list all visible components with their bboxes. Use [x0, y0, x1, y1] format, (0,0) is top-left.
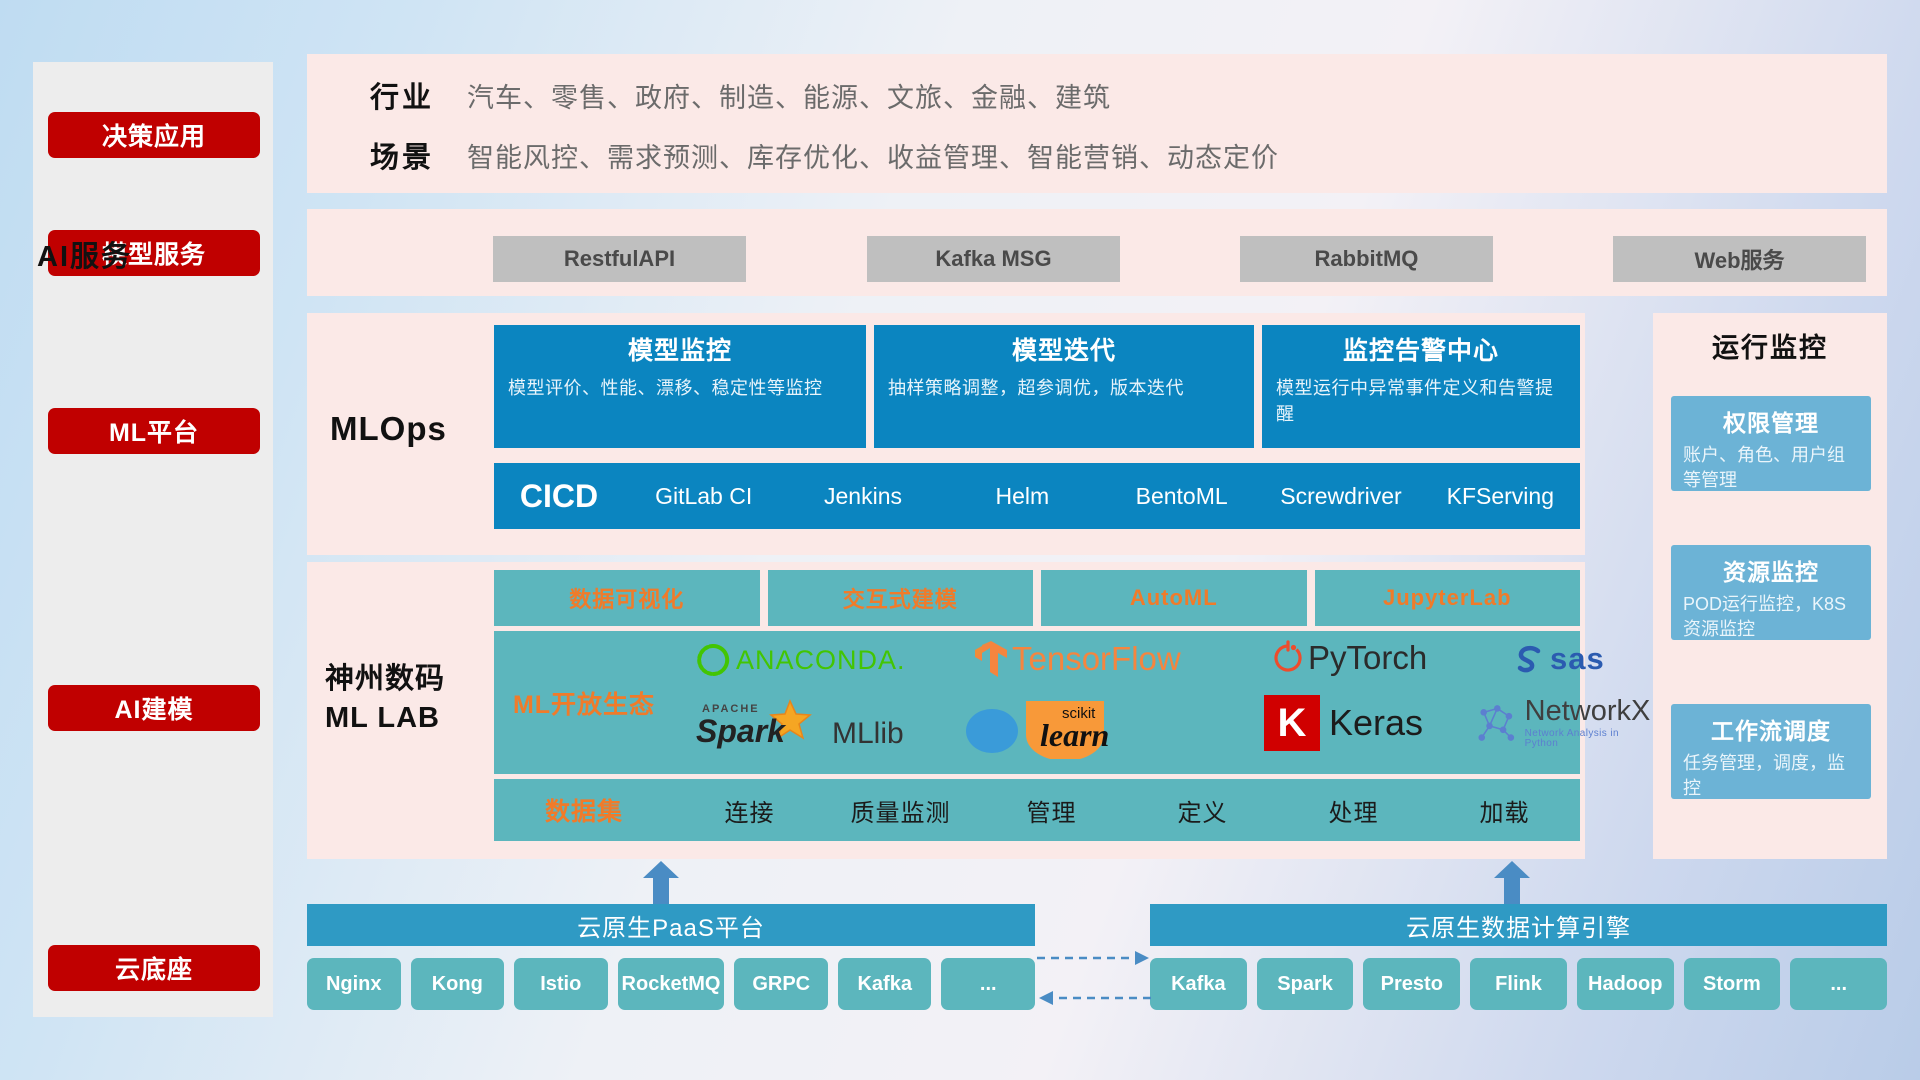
- industry-row: 行业 汽车、零售、政府、制造、能源、文旅、金融、建筑: [337, 74, 1111, 116]
- stage-chip-label: 决策应用: [102, 117, 206, 153]
- cloud-tag-more[interactable]: ...: [1790, 958, 1887, 1010]
- ml-lab-tab-data-visualization[interactable]: 数据可视化: [494, 570, 760, 626]
- ml-lab-tab-jupyterlab[interactable]: JupyterLab: [1315, 570, 1581, 626]
- cloud-paas-bar: 云原生PaaS平台: [307, 904, 1035, 946]
- pytorch-mark-icon: [1274, 640, 1302, 676]
- dataset-item-connect[interactable]: 连接: [674, 793, 825, 828]
- cloud-tag-grpc[interactable]: GRPC: [734, 958, 828, 1010]
- sas-mark-icon: [1514, 643, 1546, 675]
- stage-chip-ai-modeling[interactable]: AI建模: [48, 685, 260, 731]
- monitoring-card-desc: 任务管理，调度，监控: [1683, 751, 1859, 801]
- monitoring-card-title: 资源监控: [1683, 553, 1859, 587]
- dataset-item-load[interactable]: 加载: [1429, 793, 1580, 828]
- tensorflow-mark-icon: [974, 639, 1008, 679]
- stage-chip-label: ML平台: [109, 413, 199, 449]
- mlops-card-title: 模型迭代: [888, 335, 1240, 369]
- ml-ecosystem-label: ML开放生态: [494, 685, 674, 721]
- mllib-logo-text: MLlib: [832, 717, 904, 755]
- ai-service-label: AI服务: [37, 233, 177, 275]
- tensorflow-logo-text: TensorFlow: [1012, 640, 1181, 678]
- pytorch-logo: PyTorch: [1274, 639, 1427, 677]
- cloud-tag-rocketmq[interactable]: RocketMQ: [618, 958, 725, 1010]
- cicd-item-kfserving[interactable]: KFServing: [1421, 483, 1580, 509]
- dataset-item-quality-monitor[interactable]: 质量监测: [825, 793, 976, 828]
- ai-service-item-restfulapi[interactable]: RestfulAPI: [493, 236, 746, 282]
- cloud-paas-group: 云原生PaaS平台 Nginx Kong Istio RocketMQ GRPC…: [307, 904, 1035, 1010]
- spark-mark-icon: APACHE Spark: [694, 699, 824, 755]
- keras-mark-letter: K: [1278, 701, 1307, 746]
- ml-ecosystem-panel: ML开放生态 ANACONDA. TensorFlow: [494, 631, 1580, 774]
- stage-chip-label: 云底座: [115, 950, 193, 986]
- cicd-item-bentoml[interactable]: BentoML: [1102, 483, 1261, 509]
- cloud-tag-kafka[interactable]: Kafka: [1150, 958, 1247, 1010]
- networkx-logo-text: NetworkX: [1525, 697, 1652, 726]
- architecture-diagram: 决策应用 模型服务 ML平台 AI建模 云底座 行业 汽车、零售、政府、制造、能…: [0, 0, 1920, 1080]
- scene-value: 智能风控、需求预测、库存优化、收益管理、智能营销、动态定价: [467, 136, 1279, 175]
- mlops-card-model-monitor[interactable]: 模型监控 模型评价、性能、漂移、稳定性等监控: [494, 325, 866, 448]
- stage-chip-decision-app[interactable]: 决策应用: [48, 112, 260, 158]
- arrow-up-paas-icon: [641, 861, 681, 901]
- networkx-logo: NetworkX Network Analysis in Python: [1474, 697, 1652, 749]
- cicd-bar: CICD GitLab CI Jenkins Helm BentoML Scre…: [494, 463, 1580, 529]
- monitoring-card-desc: POD运行监控，K8S资源监控: [1683, 592, 1859, 642]
- applications-band: 行业 汽车、零售、政府、制造、能源、文旅、金融、建筑 场景 智能风控、需求预测、…: [307, 54, 1887, 193]
- networkx-logo-subtext: Network Analysis in Python: [1525, 729, 1652, 749]
- keras-mark-icon: K: [1264, 695, 1320, 751]
- cloud-tag-kong[interactable]: Kong: [411, 958, 505, 1010]
- cloud-engine-tags: Kafka Spark Presto Flink Hadoop Storm ..…: [1150, 958, 1887, 1010]
- monitoring-card-title: 工作流调度: [1683, 712, 1859, 746]
- ai-service-item-label: RestfulAPI: [564, 246, 675, 272]
- monitoring-card-title: 权限管理: [1683, 404, 1859, 438]
- arrow-up-engine-icon: [1492, 861, 1532, 901]
- tensorflow-logo: TensorFlow: [974, 639, 1181, 679]
- mlops-card-desc: 模型评价、性能、漂移、稳定性等监控: [508, 375, 852, 401]
- networkx-mark-icon: [1474, 700, 1519, 746]
- cicd-item-screwdriver[interactable]: Screwdriver: [1261, 483, 1420, 509]
- cicd-item-gitlab-ci[interactable]: GitLab CI: [624, 483, 783, 509]
- cloud-tag-istio[interactable]: Istio: [514, 958, 608, 1010]
- cicd-item-helm[interactable]: Helm: [943, 483, 1102, 509]
- ai-service-item-label: Web服务: [1694, 243, 1784, 275]
- mlops-card-model-iteration[interactable]: 模型迭代 抽样策略调整，超参调优，版本迭代: [874, 325, 1254, 448]
- cloud-tag-more[interactable]: ...: [941, 958, 1035, 1010]
- spark-mllib-logo: APACHE Spark MLlib: [694, 699, 904, 755]
- cloud-tag-flink[interactable]: Flink: [1470, 958, 1567, 1010]
- monitoring-card-resource[interactable]: 资源监控 POD运行监控，K8S资源监控: [1671, 545, 1871, 640]
- scene-row: 场景 智能风控、需求预测、库存优化、收益管理、智能营销、动态定价: [337, 134, 1279, 176]
- mlops-card-title: 模型监控: [508, 335, 852, 369]
- ai-service-item-web-service[interactable]: Web服务: [1613, 236, 1866, 282]
- cloud-tag-storm[interactable]: Storm: [1684, 958, 1781, 1010]
- ml-lab-tab-automl[interactable]: AutoML: [1041, 570, 1307, 626]
- mlops-card-title: 监控告警中心: [1276, 335, 1566, 369]
- ml-lab-tab-interactive-modeling[interactable]: 交互式建模: [768, 570, 1034, 626]
- anaconda-logo-text: ANACONDA.: [736, 645, 906, 676]
- keras-logo: K Keras: [1264, 695, 1423, 751]
- cloud-engine-group: 云原生数据计算引擎 Kafka Spark Presto Flink Hadoo…: [1150, 904, 1887, 1010]
- mlops-card-desc: 抽样策略调整，超参调优，版本迭代: [888, 375, 1240, 401]
- dataset-item-define[interactable]: 定义: [1127, 793, 1278, 828]
- cloud-tag-presto[interactable]: Presto: [1363, 958, 1460, 1010]
- ai-service-item-rabbitmq[interactable]: RabbitMQ: [1240, 236, 1493, 282]
- cloud-engine-bar: 云原生数据计算引擎: [1150, 904, 1887, 946]
- ai-service-item-kafka-msg[interactable]: Kafka MSG: [867, 236, 1120, 282]
- dataset-item-manage[interactable]: 管理: [976, 793, 1127, 828]
- scene-label: 场景: [337, 134, 467, 176]
- dataset-bar: 数据集 连接 质量监测 管理 定义 处理 加载: [494, 779, 1580, 841]
- cloud-paas-tags: Nginx Kong Istio RocketMQ GRPC Kafka ...: [307, 958, 1035, 1010]
- monitoring-title: 运行监控: [1653, 326, 1887, 365]
- spark-logo-text: Spark: [696, 713, 785, 750]
- anaconda-mark-icon: [696, 643, 730, 677]
- ml-lab-label: 神州数码 ML LAB: [325, 660, 485, 738]
- anaconda-logo: ANACONDA.: [696, 643, 906, 677]
- stage-chip-label: AI建模: [114, 690, 193, 726]
- stage-rail: [33, 62, 273, 1017]
- monitoring-card-workflow[interactable]: 工作流调度 任务管理，调度，监控: [1671, 704, 1871, 799]
- mlops-card-alert-center[interactable]: 监控告警中心 模型运行中异常事件定义和告警提醒: [1262, 325, 1580, 448]
- ml-lab-label-line1: 神州数码: [325, 660, 485, 699]
- dataset-title: 数据集: [494, 792, 674, 828]
- cloud-tag-kafka[interactable]: Kafka: [838, 958, 932, 1010]
- dataset-item-process[interactable]: 处理: [1278, 793, 1429, 828]
- cloud-tag-nginx[interactable]: Nginx: [307, 958, 401, 1010]
- pytorch-logo-text: PyTorch: [1308, 639, 1427, 677]
- ml-ecosystem-logos: ANACONDA. TensorFlow PyTorch: [674, 631, 1580, 774]
- stage-chip-ml-platform[interactable]: ML平台: [48, 408, 260, 454]
- cicd-title: CICD: [494, 478, 624, 515]
- sas-logo-text: sas: [1550, 641, 1605, 677]
- learn-logo-text: learn: [1040, 717, 1109, 754]
- stage-chip-cloud-base[interactable]: 云底座: [48, 945, 260, 991]
- cloud-paas-bar-label: 云原生PaaS平台: [577, 908, 765, 943]
- cloud-link-connectors: [1035, 946, 1153, 1016]
- ml-lab-tabs: 数据可视化 交互式建模 AutoML JupyterLab: [494, 570, 1580, 626]
- sas-logo: sas: [1514, 641, 1605, 677]
- ai-service-item-label: RabbitMQ: [1315, 246, 1419, 272]
- cicd-item-jenkins[interactable]: Jenkins: [783, 483, 942, 509]
- ai-service-item-label: Kafka MSG: [935, 246, 1051, 272]
- mlops-label: MLOps: [330, 410, 470, 448]
- cloud-engine-bar-label: 云原生数据计算引擎: [1406, 908, 1631, 943]
- cloud-tag-hadoop[interactable]: Hadoop: [1577, 958, 1674, 1010]
- industry-label: 行业: [337, 74, 467, 116]
- industry-value: 汽车、零售、政府、制造、能源、文旅、金融、建筑: [467, 76, 1111, 115]
- keras-logo-text: Keras: [1329, 702, 1423, 744]
- ml-lab-label-line2: ML LAB: [325, 699, 485, 738]
- scikit-learn-logo: scikit learn: [964, 697, 1174, 759]
- monitoring-card-desc: 账户、角色、用户组等管理: [1683, 443, 1859, 493]
- monitoring-card-permission[interactable]: 权限管理 账户、角色、用户组等管理: [1671, 396, 1871, 491]
- cloud-tag-spark[interactable]: Spark: [1257, 958, 1354, 1010]
- mlops-card-desc: 模型运行中异常事件定义和告警提醒: [1276, 375, 1566, 427]
